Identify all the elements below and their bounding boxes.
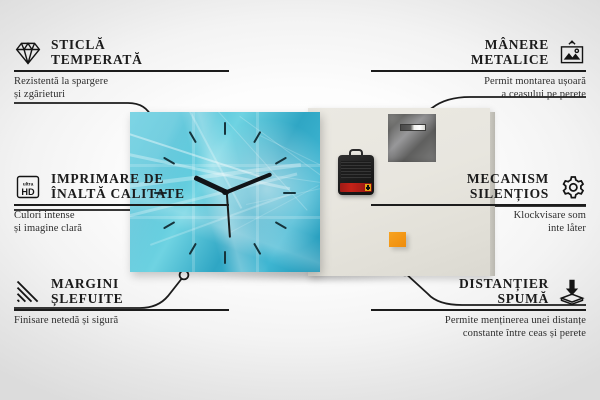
callout-title-line-1: MÂNERE	[471, 38, 549, 53]
callout-subtitle: Rezistentă la spargere și zgârieturi	[14, 76, 229, 102]
callout-divider	[371, 70, 586, 72]
callout-subtitle: Permite menținerea unei distanțe constan…	[371, 315, 586, 341]
callout-silent-mechanism: MECANISM SILENȚIOS Klockvisare som inte …	[371, 172, 586, 235]
callout-title: MECANISM SILENȚIOS	[467, 172, 549, 201]
quartz-mechanism	[338, 155, 374, 195]
callout-foam-spacer: DISTANȚIER SPUMĂ Permite menținerea unei…	[371, 277, 586, 340]
diamond-icon	[14, 39, 42, 67]
callout-divider	[371, 204, 586, 206]
callout-header: MECANISM SILENȚIOS	[371, 172, 586, 201]
gear-icon	[558, 173, 586, 201]
callout-title-line-1: DISTANȚIER	[459, 277, 549, 292]
callout-title-line-1: IMPRIMARE DE	[51, 172, 185, 187]
callout-subtitle: Culori intense și imagine clară	[14, 210, 229, 236]
callout-subtitle: Klockvisare som inte låter	[371, 210, 586, 236]
infographic-stage: STICLĂ TEMPERATĂ Rezistentă la spargere …	[0, 0, 600, 400]
callout-divider	[14, 309, 229, 311]
svg-text:HD: HD	[21, 186, 35, 196]
callout-header: DISTANȚIER SPUMĂ	[371, 277, 586, 306]
callout-title: STICLĂ TEMPERATĂ	[51, 38, 143, 67]
callout-title-line-1: MECANISM	[467, 172, 549, 187]
callout-title-line-2: SPUMĂ	[459, 292, 549, 307]
clock-minute-hand	[224, 172, 272, 194]
callout-title-line-2: METALICE	[471, 53, 549, 68]
metal-hanger	[388, 114, 436, 162]
callout-title-line-1: MARGINI	[51, 277, 123, 292]
callout-divider	[371, 309, 586, 311]
callout-title-line-2: SILENȚIOS	[467, 187, 549, 202]
mechanism-label	[341, 161, 371, 178]
hanging-picture-frame-icon	[558, 39, 586, 67]
callout-tempered-glass: STICLĂ TEMPERATĂ Rezistentă la spargere …	[14, 38, 229, 101]
callout-title: MÂNERE METALICE	[471, 38, 549, 67]
callout-polished-edges: MARGINI ȘLEFUITE Finisare netedă și sigu…	[14, 277, 229, 328]
mechanism-hook	[349, 149, 363, 158]
callout-divider	[14, 204, 229, 206]
arrow-down-onto-pad-icon	[558, 278, 586, 306]
callout-title: DISTANȚIER SPUMĂ	[459, 277, 549, 306]
ultra-hd-badge-icon: ultra HD	[14, 173, 42, 201]
callout-title: IMPRIMARE DE ÎNALTĂ CALITATE	[51, 172, 185, 201]
callout-title-line-2: ÎNALTĂ CALITATE	[51, 187, 185, 202]
callout-high-quality-print: ultra HD IMPRIMARE DE ÎNALTĂ CALITATE Cu…	[14, 172, 229, 235]
callout-divider	[14, 70, 229, 72]
callout-header: MÂNERE METALICE	[371, 38, 586, 67]
callout-title: MARGINI ȘLEFUITE	[51, 277, 123, 306]
callout-header: MARGINI ȘLEFUITE	[14, 277, 229, 306]
hanger-slot	[400, 124, 426, 131]
callout-subtitle: Permit montarea ușoară a ceasului pe per…	[371, 76, 586, 102]
callout-header: ultra HD IMPRIMARE DE ÎNALTĂ CALITATE	[14, 172, 229, 201]
callout-title-line-1: STICLĂ	[51, 38, 143, 53]
callout-metal-mounts: MÂNERE METALICE Permit montarea ușoară a…	[371, 38, 586, 101]
callout-title-line-2: TEMPERATĂ	[51, 53, 143, 68]
callout-header: STICLĂ TEMPERATĂ	[14, 38, 229, 67]
callout-title-line-2: ȘLEFUITE	[51, 292, 123, 307]
callout-subtitle: Finisare netedă și sigură	[14, 315, 229, 328]
polished-edge-lines-icon	[14, 278, 42, 306]
